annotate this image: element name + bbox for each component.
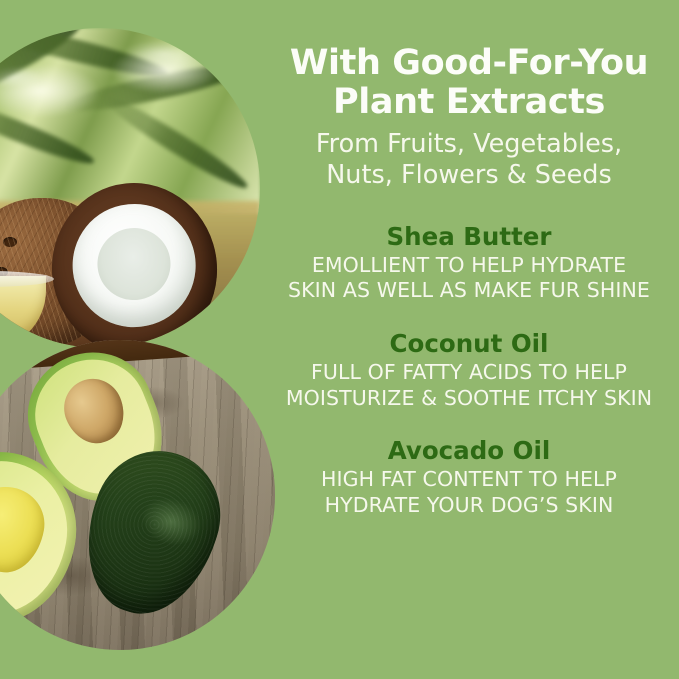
- ingredient-list: Shea Butter EMOLLIENT TO HELP HYDRATE SK…: [276, 222, 662, 519]
- sunlight-highlight: [110, 46, 220, 94]
- ingredient-name: Avocado Oil: [276, 436, 662, 465]
- ingredient-description-line-2: SKIN AS WELL AS MAKE FUR SHINE: [276, 278, 662, 303]
- ingredient-description-line-1: EMOLLIENT TO HELP HYDRATE: [276, 253, 662, 278]
- ingredient-description: HIGH FAT CONTENT TO HELP HYDRATE YOUR DO…: [276, 467, 662, 518]
- photo-collage: [0, 0, 275, 679]
- avocado-pit-cavity: [0, 481, 50, 578]
- page-title: With Good-For-You Plant Extracts: [276, 0, 662, 122]
- coconut-photo: [0, 28, 260, 348]
- ingredient-description-line-2: HYDRATE YOUR DOG’S SKIN: [276, 493, 662, 518]
- subtitle: From Fruits, Vegetables, Nuts, Flowers &…: [276, 129, 662, 191]
- headline-line-1: With Good-For-You: [290, 43, 648, 83]
- ingredient-item-coconut-oil: Coconut Oil FULL OF FATTY ACIDS TO HELP …: [276, 329, 662, 411]
- ingredient-description: EMOLLIENT TO HELP HYDRATE SKIN AS WELL A…: [276, 253, 662, 304]
- text-column: With Good-For-You Plant Extracts From Fr…: [276, 0, 679, 679]
- ingredient-description-line-1: HIGH FAT CONTENT TO HELP: [276, 467, 662, 492]
- ingredient-item-avocado-oil: Avocado Oil HIGH FAT CONTENT TO HELP HYD…: [276, 436, 662, 518]
- headline-line-2: Plant Extracts: [333, 82, 605, 122]
- sunlight-highlight: [0, 64, 100, 118]
- ingredient-name: Coconut Oil: [276, 329, 662, 358]
- avocado-pit: [55, 370, 133, 452]
- plant-extracts-infographic: With Good-For-You Plant Extracts From Fr…: [0, 0, 679, 679]
- avocado-photo: [0, 340, 275, 650]
- ingredient-name: Shea Butter: [276, 222, 662, 251]
- coconut-flesh: [67, 198, 201, 334]
- subtitle-line-1: From Fruits, Vegetables,: [316, 129, 622, 159]
- ingredient-item-shea-butter: Shea Butter EMOLLIENT TO HELP HYDRATE SK…: [276, 222, 662, 304]
- ingredient-description-line-2: MOISTURIZE & SOOTHE ITCHY SKIN: [276, 386, 662, 411]
- ingredient-description: FULL OF FATTY ACIDS TO HELP MOISTURIZE &…: [276, 360, 662, 411]
- ingredient-description-line-1: FULL OF FATTY ACIDS TO HELP: [276, 360, 662, 385]
- coconut-eye: [3, 237, 17, 247]
- subtitle-line-2: Nuts, Flowers & Seeds: [326, 160, 612, 190]
- coconut-cavity: [94, 225, 174, 304]
